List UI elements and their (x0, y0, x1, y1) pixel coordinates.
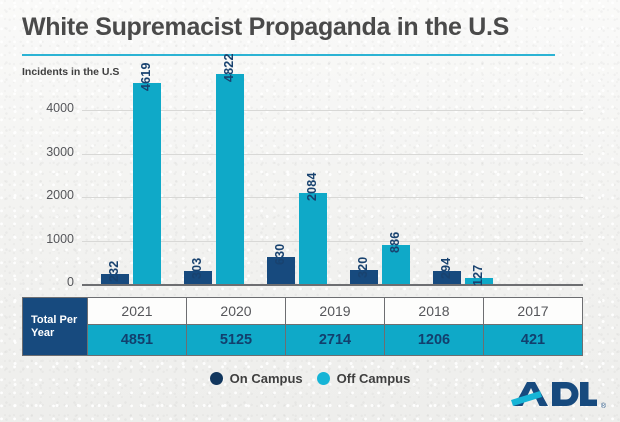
year-cell: 2017 (484, 298, 582, 324)
y-axis-tick-label: 2000 (0, 188, 74, 202)
totals-columns: 202148512020512520192714201812062017421 (87, 298, 582, 355)
year-cell: 2020 (187, 298, 285, 324)
legend-item-off-campus: Off Campus (317, 371, 411, 386)
infographic-root: White Supremacist Propaganda in the U.S … (0, 0, 620, 422)
bar-value-label: 4619 (139, 62, 153, 91)
legend-label-off-campus: Off Campus (337, 371, 411, 386)
adl-registered-mark: ® (601, 403, 606, 410)
totals-row-header: Total Per Year (23, 298, 87, 355)
bar-value-label: 320 (356, 257, 370, 278)
total-cell: 421 (484, 324, 582, 355)
totals-column-2019: 20192714 (285, 298, 384, 355)
total-cell: 1206 (385, 324, 483, 355)
total-cell: 4851 (88, 324, 186, 355)
bar-2020-off-campus (216, 74, 244, 284)
total-cell: 5125 (187, 324, 285, 355)
total-cell: 2714 (286, 324, 384, 355)
year-cell: 2021 (88, 298, 186, 324)
bar-value-label: 127 (471, 265, 485, 286)
legend-item-on-campus: On Campus (210, 371, 303, 386)
y-axis-tick-label: 3000 (0, 145, 74, 159)
legend-swatch-off-campus-icon (317, 372, 330, 385)
totals-column-2020: 20205125 (186, 298, 285, 355)
bar-value-label: 886 (388, 232, 402, 253)
totals-column-2018: 20181206 (384, 298, 483, 355)
totals-column-2021: 20214851 (87, 298, 186, 355)
bar-value-label: 303 (190, 257, 204, 278)
totals-column-2017: 2017421 (483, 298, 582, 355)
bar-chart-plot: 0100020003000400023246193034822630208432… (0, 0, 620, 422)
legend-label-on-campus: On Campus (230, 371, 303, 386)
bar-2021-off-campus (133, 83, 161, 284)
y-axis-tick-label: 0 (0, 275, 74, 289)
year-cell: 2019 (286, 298, 384, 324)
axis-baseline (82, 284, 583, 286)
bar-value-label: 232 (107, 260, 121, 281)
y-axis-tick-label: 1000 (0, 232, 74, 246)
legend-swatch-on-campus-icon (210, 372, 223, 385)
totals-table: Total Per Year 2021485120205125201927142… (22, 297, 583, 356)
bar-value-label: 630 (273, 243, 287, 264)
adl-logo-icon (510, 378, 600, 410)
year-cell: 2018 (385, 298, 483, 324)
bar-value-label: 4822 (222, 54, 236, 83)
bar-value-label: 294 (439, 258, 453, 279)
bar-2019-off-campus (299, 193, 327, 284)
bar-value-label: 2084 (305, 173, 319, 202)
y-axis-tick-label: 4000 (0, 101, 74, 115)
